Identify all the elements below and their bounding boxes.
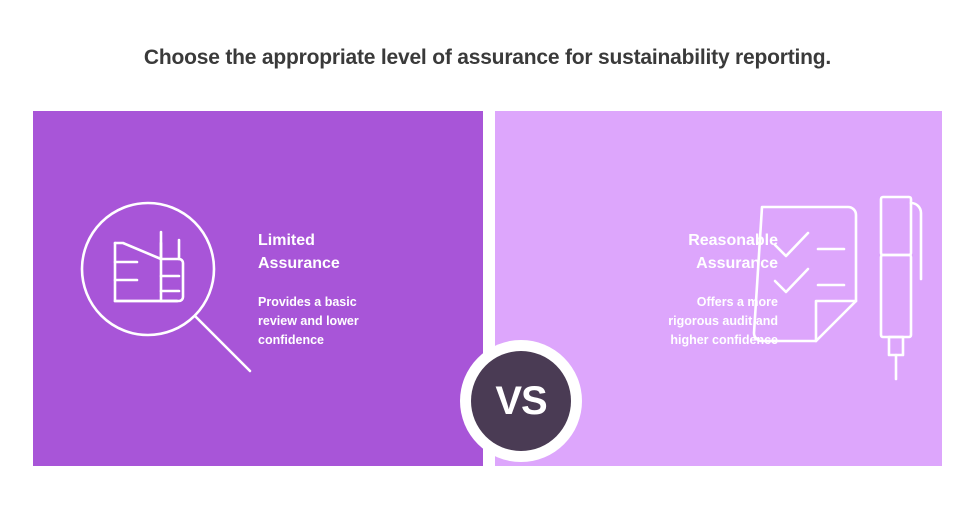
limited-assurance-text: Limited Assurance Provides a basic revie…: [258, 229, 438, 350]
limited-heading-line-2: Assurance: [258, 252, 438, 275]
limited-heading-line-1: Limited: [258, 229, 438, 252]
vs-label: VS: [495, 381, 546, 421]
vs-badge: VS: [460, 340, 582, 462]
checklist-document-marker-icon: [750, 189, 940, 394]
page-title: Choose the appropriate level of assuranc…: [0, 46, 975, 70]
panel-limited-assurance[interactable]: Limited Assurance Provides a basic revie…: [33, 111, 483, 466]
comparison-panels: Limited Assurance Provides a basic revie…: [33, 111, 942, 466]
limited-desc-line-2: review and lower: [258, 312, 438, 331]
limited-assurance-description: Provides a basic review and lower confid…: [258, 293, 438, 349]
limited-desc-line-3: confidence: [258, 331, 438, 350]
magnifying-glass-report-icon: [75, 196, 275, 401]
infographic-canvas: Choose the appropriate level of assuranc…: [0, 0, 975, 527]
limited-assurance-heading: Limited Assurance: [258, 229, 438, 275]
vs-badge-circle: VS: [471, 351, 571, 451]
limited-desc-line-1: Provides a basic: [258, 293, 438, 312]
